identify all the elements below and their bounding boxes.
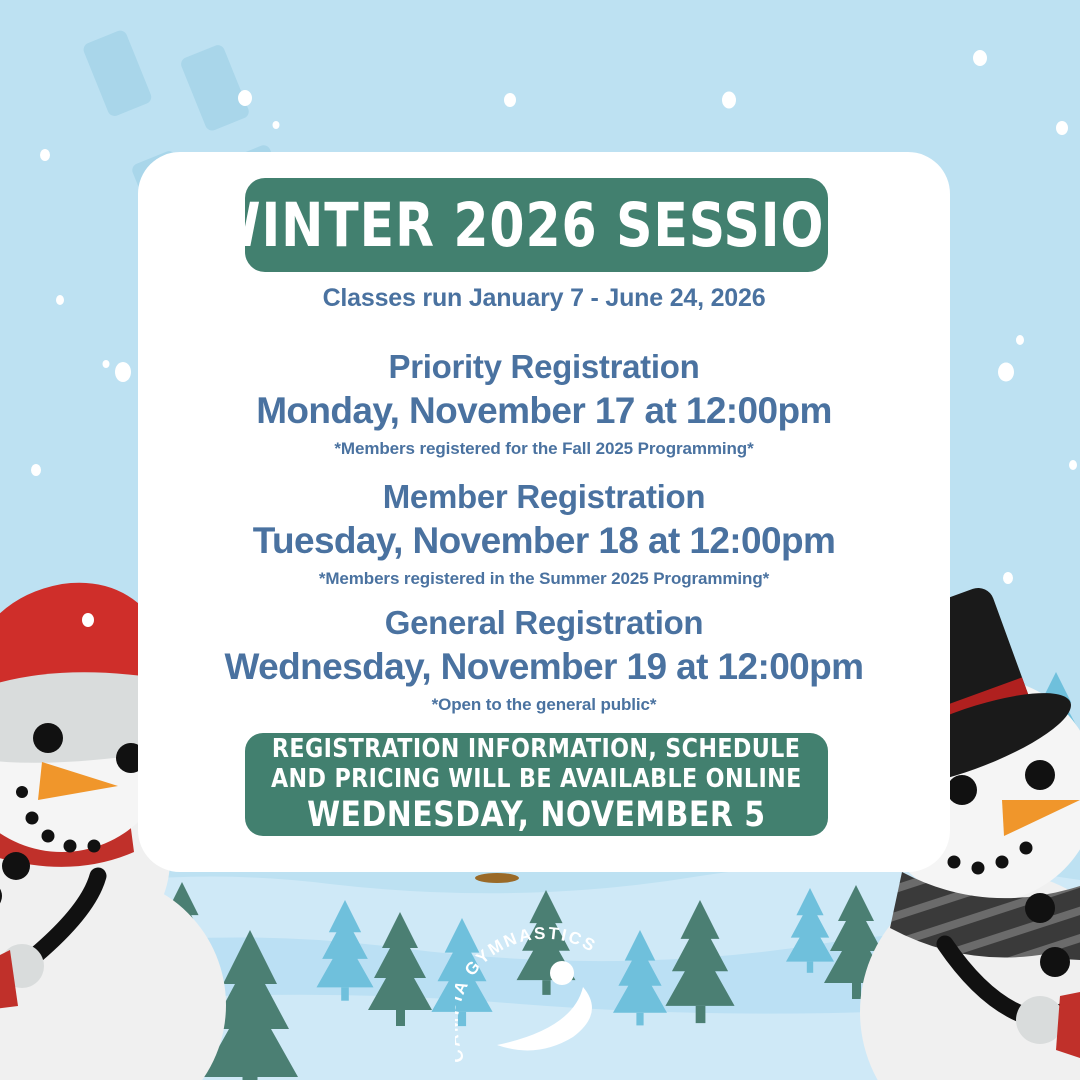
availability-line-2: AND PRICING WILL BE AVAILABLE ONLINE	[271, 764, 802, 794]
registration-block-general: General Registration Wednesday, November…	[138, 604, 950, 715]
logo-swoosh-icon	[497, 987, 592, 1050]
registration-title: Member Registration	[138, 478, 950, 516]
session-dates-subtitle: Classes run January 7 - June 24, 2026	[138, 284, 950, 313]
registration-date: Wednesday, November 19 at 12:00pm	[138, 646, 950, 688]
page-title: WINTER 2026 SESSION	[205, 195, 868, 256]
registration-note: *Open to the general public*	[138, 695, 950, 715]
poster-canvas: WINTER 2026 SESSION Classes run January …	[0, 0, 1080, 1080]
brown-sliver	[475, 873, 519, 883]
availability-banner: REGISTRATION INFORMATION, SCHEDULE AND P…	[245, 733, 828, 836]
title-banner: WINTER 2026 SESSION	[245, 178, 828, 272]
registration-note: *Members registered for the Fall 2025 Pr…	[138, 439, 950, 459]
registration-title: Priority Registration	[138, 348, 950, 386]
registration-title: General Registration	[138, 604, 950, 642]
registration-block-member: Member Registration Tuesday, November 18…	[138, 478, 950, 589]
registration-block-priority: Priority Registration Monday, November 1…	[138, 348, 950, 459]
registration-date: Monday, November 17 at 12:00pm	[138, 390, 950, 432]
logo-head-icon	[550, 961, 574, 985]
registration-date: Tuesday, November 18 at 12:00pm	[138, 520, 950, 562]
availability-date: WEDNESDAY, NOVEMBER 5	[307, 796, 765, 835]
availability-line-1: REGISTRATION INFORMATION, SCHEDULE	[272, 734, 800, 764]
campia-gymnastics-logo: CAMPIA GYMNASTICS	[455, 925, 640, 1080]
registration-note: *Members registered in the Summer 2025 P…	[138, 569, 950, 589]
